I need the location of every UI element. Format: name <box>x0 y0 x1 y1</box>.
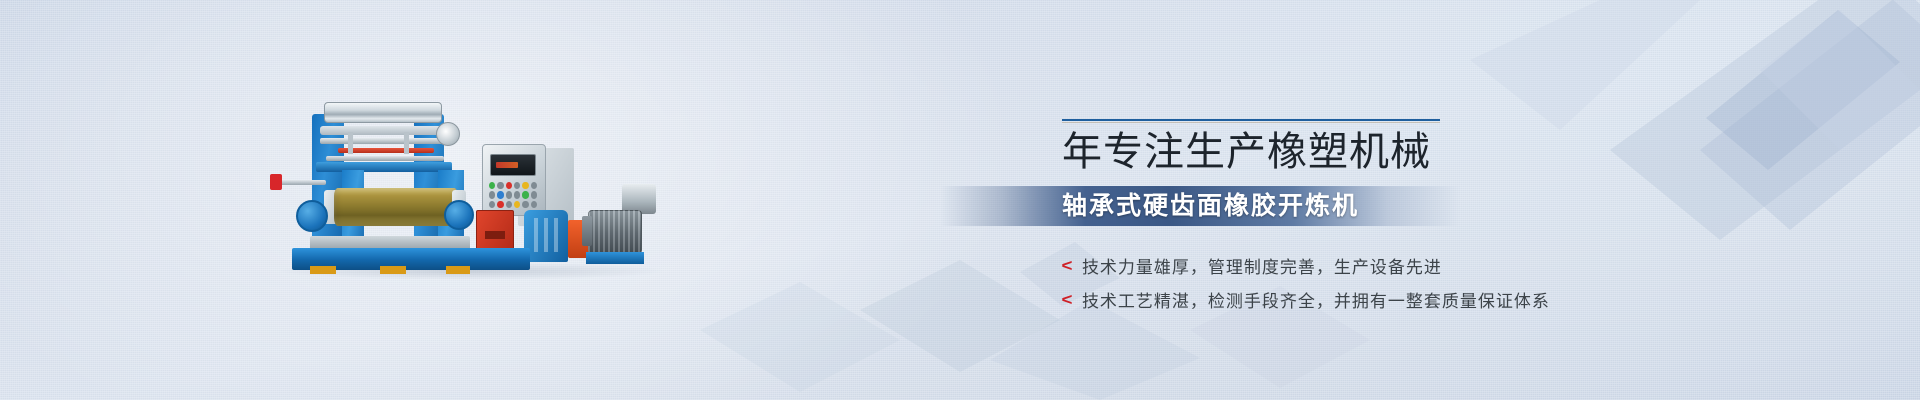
feature-item-1: < 技术力量雄厚，管理制度完善，生产设备先进 <box>1062 248 1550 282</box>
machine-gear-housing <box>524 210 568 262</box>
product-image-rubber-mixing-mill <box>286 92 654 272</box>
chevron-left-icon: < <box>1062 291 1073 308</box>
machine-control-display <box>490 154 536 176</box>
chevron-left-icon: < <box>1062 257 1073 274</box>
machine-motor-base <box>586 252 644 264</box>
promo-banner: 年专注生产橡塑机械 轴承式硬齿面橡胶开炼机 < 技术力量雄厚，管理制度完善，生产… <box>0 0 1920 400</box>
machine-foot-left <box>310 266 336 274</box>
feature-item-2-text: 技术工艺精湛，检测手段齐全，并拥有一整套质量保证体系 <box>1082 287 1550 312</box>
machine-adjust-knob <box>270 174 282 190</box>
deco-polygon-group-top-right <box>1470 0 1920 240</box>
product-subtitle: 轴承式硬齿面橡胶开炼机 <box>1062 192 1359 221</box>
machine-guard-rail-lower <box>326 156 444 161</box>
feature-item-2: < 技术工艺精湛，检测手段齐全，并拥有一整套质量保证体系 <box>1062 282 1550 316</box>
machine-control-buttons <box>489 182 537 208</box>
machine-top-roller <box>324 102 442 123</box>
machine-bearing-right <box>444 200 474 230</box>
machine-tie-rod-right <box>404 132 409 154</box>
machine-cross-beam <box>316 162 452 172</box>
headline-rule-shadow <box>1062 122 1440 123</box>
machine-guard-rail-upper <box>320 138 448 144</box>
machine-top-roller-shadow <box>320 126 448 135</box>
machine-mixing-roll <box>334 188 458 226</box>
feature-item-1-text: 技术力量雄厚，管理制度完善，生产设备先进 <box>1082 253 1442 278</box>
machine-motor-endcap <box>582 216 592 246</box>
headline-rule <box>1062 119 1440 121</box>
page-title: 年专注生产橡塑机械 <box>1062 128 1431 176</box>
machine-motor-fins <box>588 210 642 254</box>
feature-list: < 技术力量雄厚，管理制度完善，生产设备先进 < 技术工艺精湛，检测手段齐全，并… <box>1062 248 1550 316</box>
machine-foot-center <box>380 266 406 274</box>
machine-handwheel <box>436 122 460 146</box>
machine-bearing-left <box>296 200 328 232</box>
machine-foot-right <box>446 266 470 274</box>
machine-tie-rod-left <box>348 132 353 154</box>
